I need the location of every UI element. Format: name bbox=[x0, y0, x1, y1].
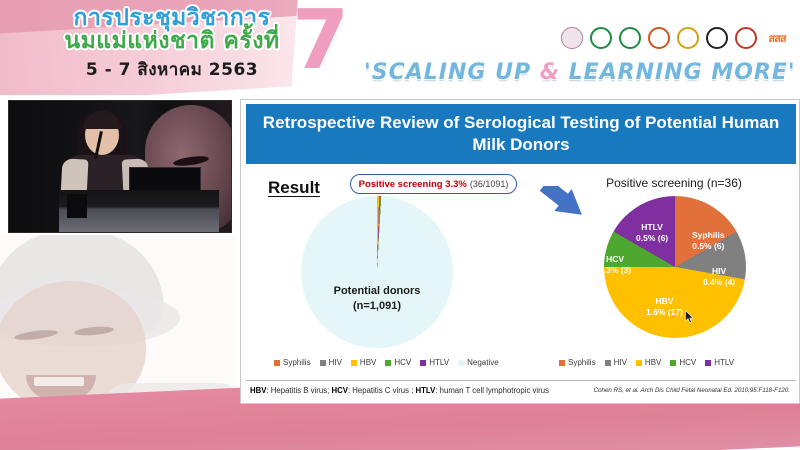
footnote-hbv-key: HBV bbox=[250, 386, 266, 395]
result-heading: Result bbox=[268, 178, 320, 198]
slide-panel: Retrospective Review of Serological Test… bbox=[240, 99, 800, 404]
logo-royal-crest-icon bbox=[675, 22, 700, 53]
pie-slice-label-hbv: HBV 1.6% (17) bbox=[646, 296, 683, 317]
legend2-label-hiv: HIV bbox=[614, 358, 627, 367]
legend-item-htlv: HTLV bbox=[420, 358, 449, 367]
logo-ministry-public-health-icon bbox=[588, 22, 613, 53]
pie-right-heading: Positive screening (n=36) bbox=[559, 176, 789, 190]
logo-thaihealth-icon: สสส bbox=[762, 22, 792, 53]
logo-royal-patronage-icon bbox=[559, 22, 584, 53]
slice-hiv-name: HIV bbox=[703, 266, 735, 277]
legend-swatch-syphilis-icon bbox=[274, 360, 280, 366]
logo-black-emblem-icon bbox=[704, 22, 729, 53]
thai-title-line2: นมแม่แห่งชาติ ครั้งที่ bbox=[22, 29, 322, 53]
slice-hbv-name: HBV bbox=[646, 296, 683, 307]
footnote-hcv-text: : Hepatitis C virus ; bbox=[348, 386, 416, 395]
legend2-swatch-htlv-icon bbox=[705, 360, 711, 366]
blue-arrow-icon bbox=[537, 186, 589, 234]
legend2-swatch-hiv-icon bbox=[605, 360, 611, 366]
legend2-item-hcv: HCV bbox=[670, 358, 696, 367]
legend-left: Syphilis HIV HBV HCV HTLV Negative bbox=[274, 358, 499, 367]
legend-swatch-hcv-icon bbox=[385, 360, 391, 366]
legend2-item-htlv: HTLV bbox=[705, 358, 734, 367]
slice-syphilis-name: Syphilis bbox=[692, 230, 725, 241]
conference-thai-title: การประชุมวิชาการ นมแม่แห่งชาติ ครั้งที่ … bbox=[22, 6, 322, 83]
legend2-swatch-syphilis-icon bbox=[559, 360, 565, 366]
legend2-swatch-hbv-icon bbox=[636, 360, 642, 366]
pie-left-label-line2: (n=1,091) bbox=[301, 299, 453, 314]
footnote-hbv-text: : Hepatitis B virus; bbox=[266, 386, 331, 395]
positive-screening-callout: Positive screening 3.3% (36/1091) bbox=[350, 174, 517, 194]
logo-thai-emblem-orange-icon bbox=[646, 22, 671, 53]
slice-hcv-value: 0.3% (3) bbox=[599, 265, 631, 276]
pie-slice-label-syphilis: Syphilis 0.5% (6) bbox=[692, 230, 725, 251]
pie-slice-label-hiv: HIV 0.4% (4) bbox=[703, 266, 735, 287]
legend-swatch-hbv-icon bbox=[351, 360, 357, 366]
slice-hcv-name: HCV bbox=[599, 254, 631, 265]
mouse-cursor-icon bbox=[685, 310, 695, 324]
slice-htlv-name: HTLV bbox=[636, 222, 668, 233]
slide-footnote-bar: HBV: Hepatitis B virus; HCV: Hepatitis C… bbox=[246, 380, 796, 400]
legend2-label-htlv: HTLV bbox=[714, 358, 734, 367]
thai-title-line1: การประชุมวิชาการ bbox=[22, 6, 322, 30]
pie-left-disc bbox=[301, 196, 453, 348]
speaker-video-feed[interactable] bbox=[8, 100, 232, 233]
pie-chart-potential-donors: Potential donors (n=1,091) bbox=[301, 196, 453, 348]
legend-swatch-negative-icon bbox=[458, 360, 464, 366]
legend-item-hcv: HCV bbox=[385, 358, 411, 367]
legend-label-syphilis: Syphilis bbox=[283, 358, 311, 367]
legend2-swatch-hcv-icon bbox=[670, 360, 676, 366]
legend2-label-hcv: HCV bbox=[679, 358, 696, 367]
legend-swatch-htlv-icon bbox=[420, 360, 426, 366]
slogan-ampersand: & bbox=[540, 60, 560, 85]
legend2-item-syphilis: Syphilis bbox=[559, 358, 596, 367]
pie-left-label-line1: Potential donors bbox=[301, 284, 453, 299]
pie-chart-positive-screening: Syphilis 0.5% (6) HIV 0.4% (4) HBV 1.6% … bbox=[604, 196, 746, 338]
presentation-screen: การประชุมวิชาการ นมแม่แห่งชาติ ครั้งที่ … bbox=[0, 0, 800, 450]
footnote-htlv-text: : human T cell lymphotropic virus bbox=[435, 386, 549, 395]
slice-htlv-value: 0.5% (6) bbox=[636, 233, 668, 244]
slice-hiv-value: 0.4% (4) bbox=[703, 277, 735, 288]
pie-slice-label-htlv: HTLV 0.5% (6) bbox=[636, 222, 668, 243]
callout-detail-text: (36/1091) bbox=[470, 179, 509, 189]
slogan-part1: 'SCALING UP bbox=[364, 60, 540, 85]
baby-teeth bbox=[34, 377, 84, 386]
slide-citation: Cohen RS, et al. Arch Dis Child Fetal Ne… bbox=[594, 387, 790, 394]
slice-syphilis-value: 0.5% (6) bbox=[692, 241, 725, 252]
legend2-item-hbv: HBV bbox=[636, 358, 661, 367]
legend-label-hiv: HIV bbox=[329, 358, 342, 367]
legend-swatch-hiv-icon bbox=[320, 360, 326, 366]
logo-red-emblem-icon bbox=[733, 22, 758, 53]
legend2-label-hbv: HBV bbox=[645, 358, 661, 367]
legend2-label-syphilis: Syphilis bbox=[568, 358, 596, 367]
thaihealth-label: สสส bbox=[768, 29, 785, 47]
legend-label-negative: Negative bbox=[467, 358, 499, 367]
legend-label-htlv: HTLV bbox=[429, 358, 449, 367]
legend-right: Syphilis HIV HBV HCV HTLV bbox=[559, 358, 734, 367]
conference-slogan: 'SCALING UP & LEARNING MORE' bbox=[364, 60, 796, 85]
slogan-part2: LEARNING MORE' bbox=[560, 60, 796, 85]
pie-left-center-label: Potential donors (n=1,091) bbox=[301, 284, 453, 314]
slice-hbv-value: 1.6% (17) bbox=[646, 307, 683, 318]
legend-item-negative: Negative bbox=[458, 358, 499, 367]
callout-highlight-text: Positive screening 3.3% bbox=[359, 179, 467, 190]
podium-plate bbox=[67, 194, 87, 218]
legend2-item-hiv: HIV bbox=[605, 358, 627, 367]
sponsor-logo-row: สสส bbox=[559, 22, 792, 53]
legend-item-hiv: HIV bbox=[320, 358, 342, 367]
abbreviation-footnote: HBV: Hepatitis B virus; HCV: Hepatitis C… bbox=[250, 386, 549, 395]
slide-title: Retrospective Review of Serological Test… bbox=[246, 104, 796, 164]
logo-department-health-icon bbox=[617, 22, 642, 53]
legend-item-syphilis: Syphilis bbox=[274, 358, 311, 367]
legend-label-hbv: HBV bbox=[360, 358, 376, 367]
legend-label-hcv: HCV bbox=[394, 358, 411, 367]
footnote-htlv-key: HTLV bbox=[416, 386, 436, 395]
footnote-hcv-key: HCV bbox=[331, 386, 347, 395]
conference-date: 5 - 7 สิงหาคม 2563 bbox=[22, 56, 322, 83]
pie-slice-label-hcv: HCV 0.3% (3) bbox=[599, 254, 631, 275]
legend-item-hbv: HBV bbox=[351, 358, 376, 367]
